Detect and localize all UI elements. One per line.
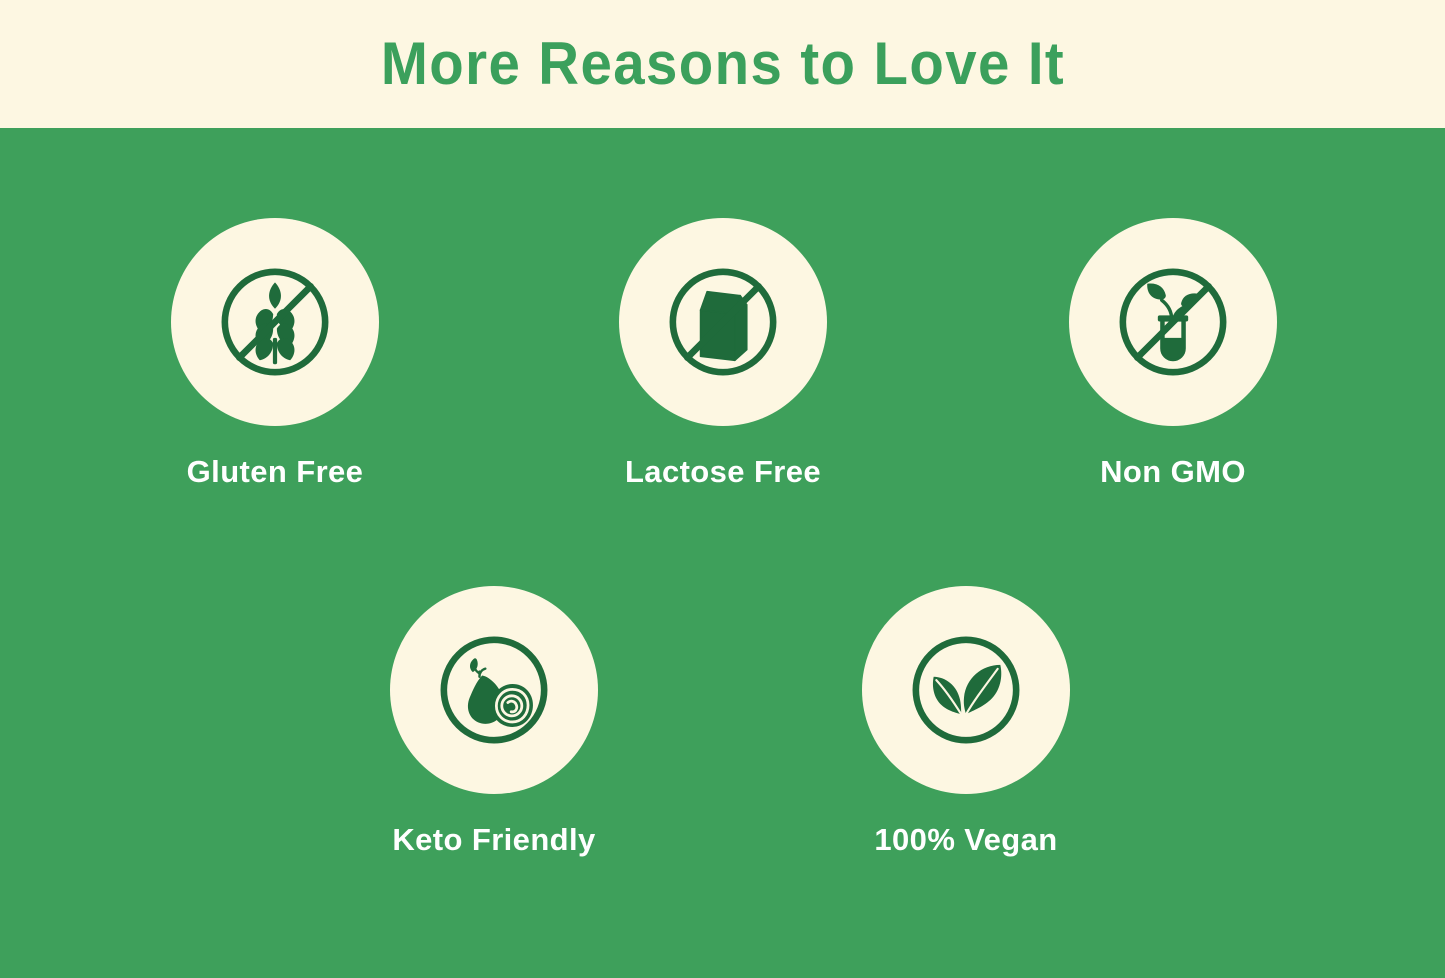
infographic-poster: More Reasons to Love It xyxy=(0,0,1445,978)
badge-grid: Gluten Free xyxy=(0,128,1445,978)
header-band: More Reasons to Love It xyxy=(0,0,1445,128)
badge-label: Lactose Free xyxy=(625,456,821,487)
no-test-tube-plant-icon xyxy=(1107,256,1239,388)
leaves-icon xyxy=(900,624,1032,756)
badge-non-gmo[interactable]: Non GMO xyxy=(1058,218,1288,487)
badge-label: Non GMO xyxy=(1100,456,1246,487)
badge-gluten-free[interactable]: Gluten Free xyxy=(160,218,390,487)
badge-label: 100% Vegan xyxy=(874,824,1057,855)
badge-disc xyxy=(1069,218,1277,426)
badge-vegan[interactable]: 100% Vegan xyxy=(851,586,1081,855)
badge-lactose-free[interactable]: Lactose Free xyxy=(608,218,838,487)
badge-keto-friendly[interactable]: Keto Friendly xyxy=(379,586,609,855)
badge-disc xyxy=(390,586,598,794)
no-wheat-icon xyxy=(209,256,341,388)
badge-disc xyxy=(862,586,1070,794)
page-title: More Reasons to Love It xyxy=(380,34,1064,94)
no-milk-carton-icon xyxy=(657,256,789,388)
badge-label: Keto Friendly xyxy=(392,824,595,855)
avocado-icon xyxy=(428,624,560,756)
badge-label: Gluten Free xyxy=(187,456,364,487)
badge-disc xyxy=(171,218,379,426)
badge-disc xyxy=(619,218,827,426)
